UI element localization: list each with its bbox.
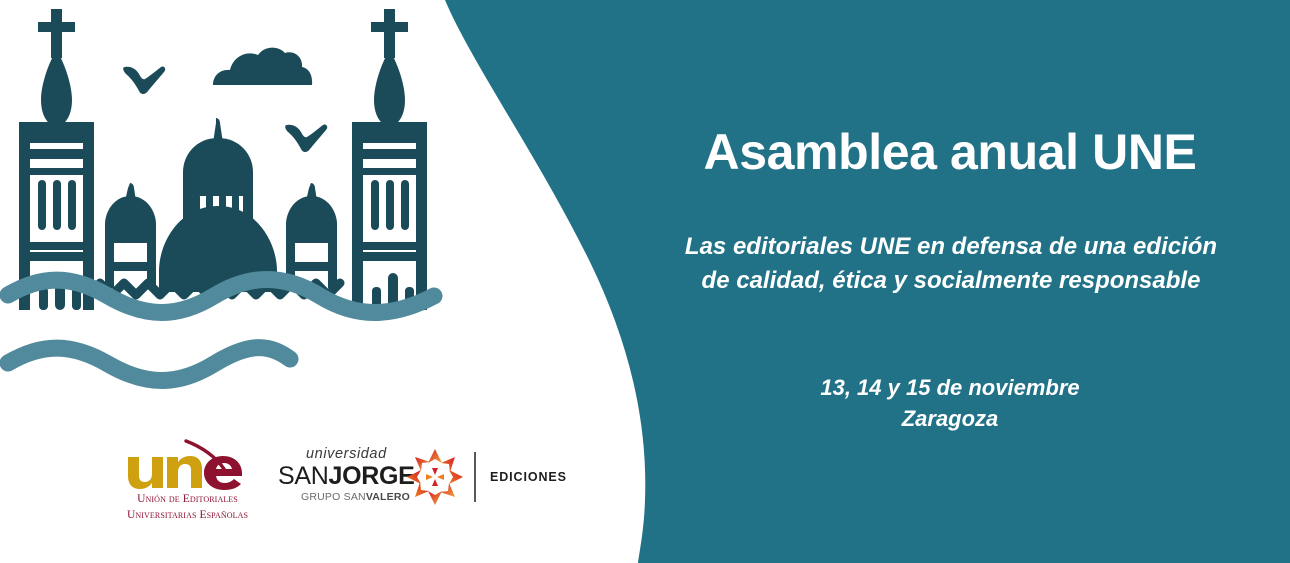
right-tower-base [361,252,419,261]
left-small-base [108,262,153,271]
wave-lower [8,348,290,381]
right-small-dome [286,196,337,231]
river-waves [8,280,434,381]
star-arrow-group [407,449,463,505]
left-tower-cornice-3 [28,242,86,250]
usj-grupo-san-text: GRUPO SAN [301,491,366,503]
page-title: Asamblea anual UNE [650,125,1250,180]
left-tower-base [28,252,86,261]
logos-row: Unión de Editoriales Universitarias Espa… [110,438,570,538]
event-details: 13, 14 y 15 de noviembre Zaragoza [650,372,1250,434]
usj-jorge-text: JORGE [329,462,415,490]
usj-san-text: SAN [278,462,329,490]
bird-icon-right [285,124,327,152]
subtitle-line-2: de calidad, ética y socialmente responsa… [655,264,1247,298]
right-tower-cornice-3 [361,242,419,250]
left-tower-window-1 [38,180,46,230]
right-tower-window-2 [386,180,394,230]
usj-grupo-text: GRUPO SANVALERO [301,491,410,503]
usj-valero-text: VALERO [366,491,410,503]
usj-wordmark: universidad SANJORGE GRUPO SANVALERO [278,446,410,508]
subtitle-line-1: Las editoriales UNE en defensa de una ed… [655,230,1247,264]
poster-text-block: Asamblea anual UNE Las editoriales UNE e… [650,0,1250,563]
right-tower-window-1 [371,180,379,230]
right-small-base [289,262,334,271]
une-caption-line-1: Unión de Editoriales [110,492,265,508]
event-date: 13, 14 y 15 de noviembre [650,372,1250,403]
subtitle: Las editoriales UNE en defensa de una ed… [655,230,1247,298]
left-tower-window-2 [53,180,61,230]
une-letter-e [204,456,242,490]
left-tower-window-3 [68,180,76,230]
right-tower-cornice-2 [361,168,419,175]
usj-sanjorge-text: SANJORGE [278,462,415,491]
wave-upper [8,280,434,313]
une-letter-n [167,456,202,488]
right-tower-window-3 [401,180,409,230]
sky-elements [123,48,327,152]
cloud-icon [213,48,312,85]
san-jorge-star-icon [406,448,464,506]
usj-ediciones-divider [474,452,476,502]
bird-icon-left [123,66,165,94]
event-city: Zaragoza [650,403,1250,434]
une-caption-line-2: Universitarias Españolas [110,508,265,524]
usj-universidad-text: universidad [306,446,387,462]
poster-canvas: Asamblea anual UNE Las editoriales UNE e… [0,0,1290,563]
une-logo[interactable]: Unión de Editoriales Universitarias Espa… [110,438,265,533]
une-logo-mark [110,438,265,490]
left-small-dome [105,196,156,231]
basilica-illustration [0,0,470,400]
right-tower-cornice-1 [361,149,419,159]
universidad-san-jorge-ediciones-logo[interactable]: universidad SANJORGE GRUPO SANVALERO [278,446,568,512]
une-logo-caption: Unión de Editoriales Universitarias Espa… [110,492,265,523]
usj-ediciones-text: EDICIONES [490,470,567,484]
une-letter-u [128,457,163,489]
left-tower-cornice-2 [28,168,86,175]
left-tower-cornice-1 [28,149,86,159]
